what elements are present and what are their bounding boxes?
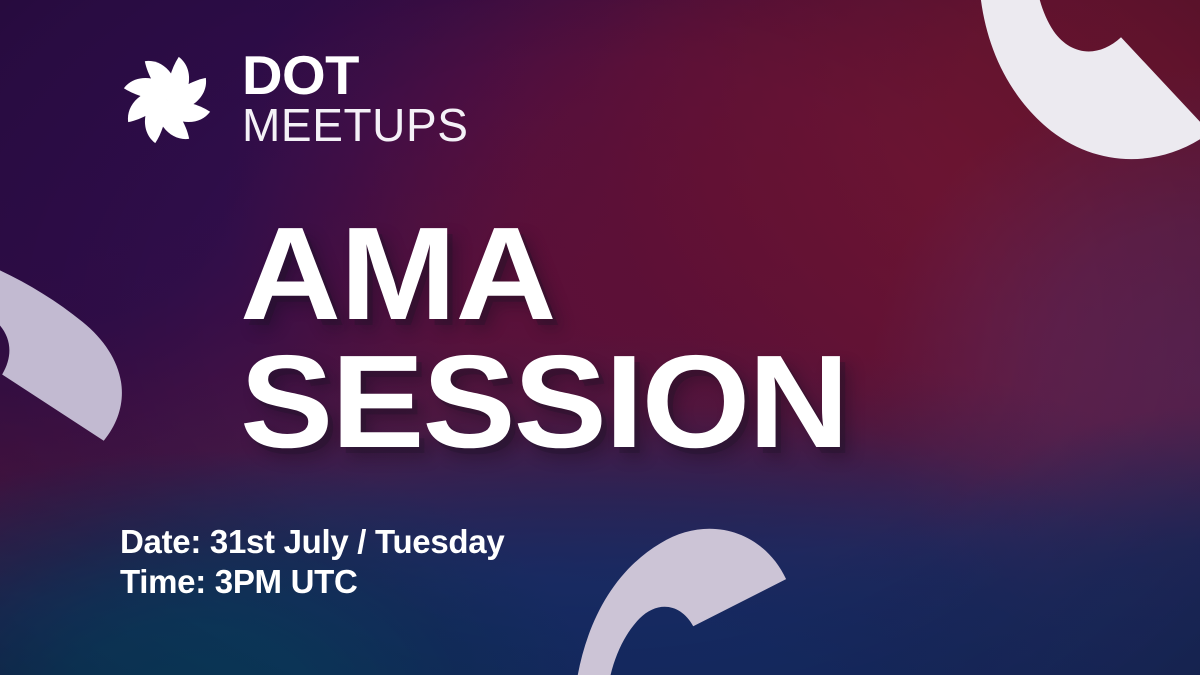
ama-session-promo-banner: DOT MEETUPS AMA SESSION Date: 31st July … bbox=[0, 0, 1200, 675]
petal-shape-icon-bottom-center bbox=[560, 519, 810, 675]
page-title: AMA SESSION bbox=[240, 210, 813, 466]
logo-text-dot: DOT bbox=[242, 50, 473, 101]
event-time-text: Time: 3PM UTC bbox=[120, 562, 504, 602]
petal-shape-icon-left-edge bbox=[0, 210, 148, 460]
dot-burst-icon bbox=[118, 51, 216, 149]
event-date-text: Date: 31st July / Tuesday bbox=[120, 522, 504, 562]
logo-wordmark: DOT MEETUPS bbox=[242, 50, 469, 149]
event-details: Date: 31st July / Tuesday Time: 3PM UTC bbox=[120, 522, 504, 603]
logo-text-meetups: MEETUPS bbox=[242, 102, 469, 149]
petal-shape-icon-top-right bbox=[936, 0, 1200, 168]
headline-line-session: SESSION bbox=[240, 338, 847, 466]
headline-line-ama: AMA bbox=[240, 210, 847, 338]
dot-meetups-logo: DOT MEETUPS bbox=[118, 50, 469, 149]
